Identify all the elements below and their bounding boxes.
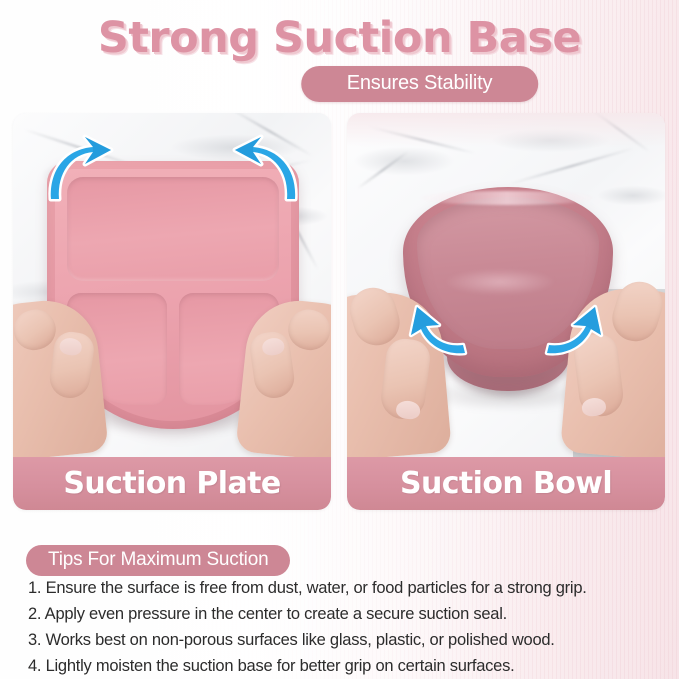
caption-label: Suction Plate <box>63 466 280 501</box>
list-item: 4. Lightly moisten the suction base for … <box>28 658 658 675</box>
infographic-page: Strong Suction Base Ensures Stability <box>0 0 679 679</box>
subtitle-badge: Ensures Stability <box>301 66 539 102</box>
list-item: 3. Works best on non-porous surfaces lik… <box>28 632 658 649</box>
panel-suction-plate[interactable]: Suction Plate <box>13 113 331 510</box>
tips-heading-badge: Tips For Maximum Suction <box>26 545 290 576</box>
panel-suction-bowl[interactable]: Suction Bowl <box>347 113 665 510</box>
tips-list: 1. Ensure the surface is free from dust,… <box>28 580 658 684</box>
product-panels: Suction Plate <box>13 113 666 510</box>
caption-bar-plate: Suction Plate <box>13 457 331 510</box>
list-item: 2. Apply even pressure in the center to … <box>28 606 658 623</box>
page-title: Strong Suction Base <box>0 13 679 63</box>
photo-top-tint <box>347 113 665 147</box>
list-item: 1. Ensure the surface is free from dust,… <box>28 580 658 597</box>
suction-arrow-right-icon <box>231 135 305 205</box>
header: Strong Suction Base Ensures Stability <box>0 0 679 108</box>
caption-bar-bowl: Suction Bowl <box>347 457 665 510</box>
bowl-photo <box>347 113 665 457</box>
suction-arrow-left-icon <box>409 299 469 361</box>
suction-arrow-left-icon <box>41 135 115 205</box>
plate-photo <box>13 113 331 457</box>
caption-label: Suction Bowl <box>400 466 612 501</box>
suction-arrow-right-icon <box>543 299 603 361</box>
